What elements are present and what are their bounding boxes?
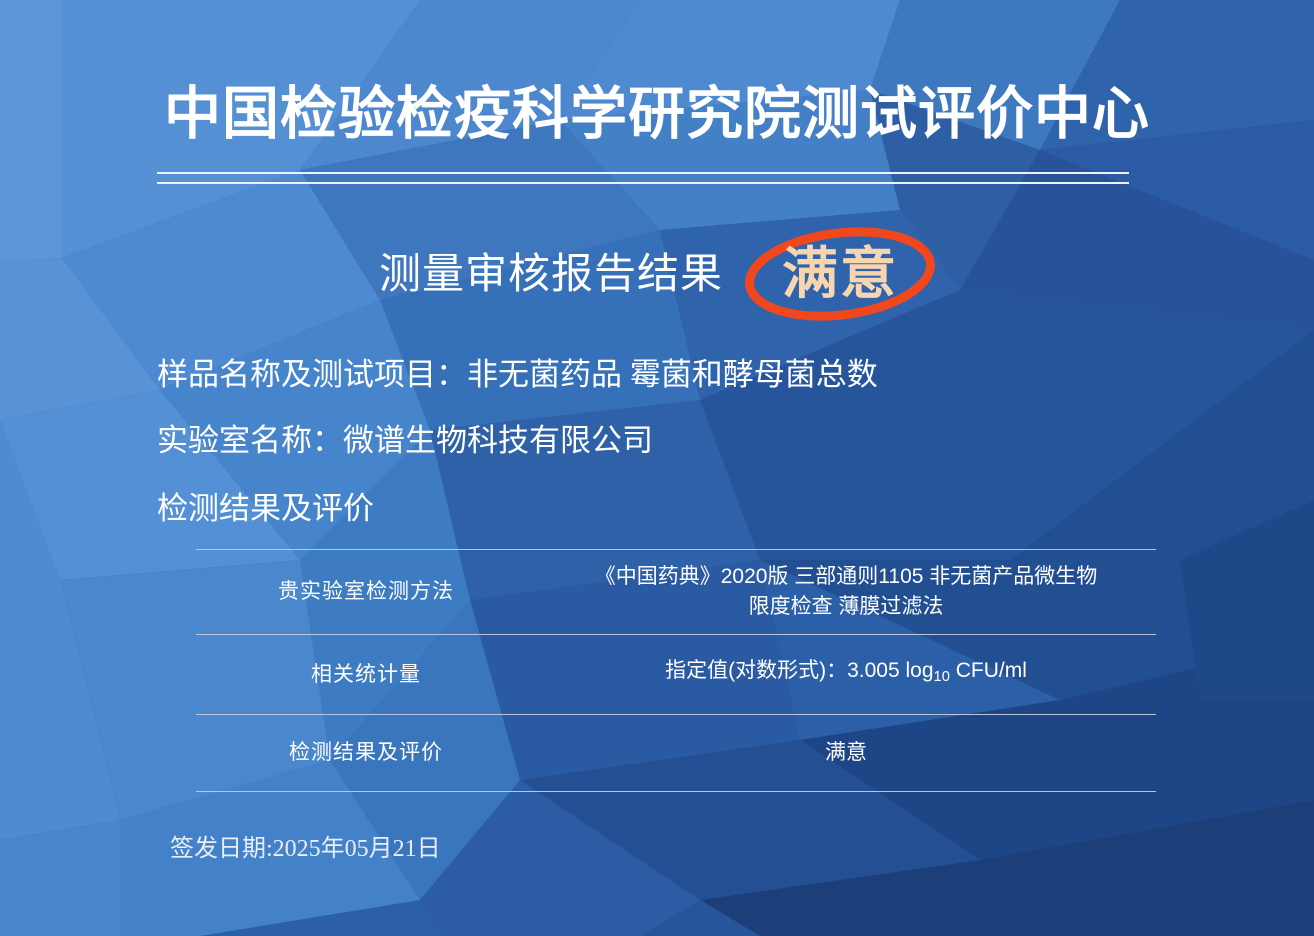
assigned-value-prefix: 指定值(对数形式)：: [665, 659, 847, 682]
table-row: 贵实验室检测方法 《中国药典》2020版 三部通则1105 非无菌产品微生物 限…: [196, 550, 1156, 634]
table-rule-bottom: [196, 791, 1156, 792]
title-divider: [157, 172, 1129, 185]
assigned-value-unit-subscript: 10: [934, 670, 950, 686]
table-row: 检测结果及评价 满意: [196, 715, 1156, 791]
results-table: 贵实验室检测方法 《中国药典》2020版 三部通则1105 非无菌产品微生物 限…: [196, 549, 1156, 792]
sample-name-line: 样品名称及测试项目：非无菌药品 霉菌和酵母菌总数: [157, 355, 878, 395]
org-title: 中国检验检疫科学研究院测试评价中心: [0, 82, 1314, 148]
results-section-heading: 检测结果及评价: [157, 489, 374, 529]
report-subtitle: 测量审核报告结果: [379, 246, 723, 302]
assigned-value-unit-log: log: [906, 659, 934, 682]
table-row: 相关统计量 指定值(对数形式)：3.005 log10 CFU/ml: [196, 635, 1156, 714]
issue-date: 签发日期:2025年05月21日: [170, 833, 441, 865]
subtitle-row: 测量审核报告结果 满意: [0, 228, 1314, 320]
row-value: 指定值(对数形式)：3.005 log10 CFU/ml: [536, 656, 1156, 692]
laboratory-name-line: 实验室名称：微谱生物科技有限公司: [157, 421, 653, 461]
row-value-line-2: 限度检查 薄膜过滤法: [550, 592, 1142, 622]
satisfactory-stamp: 满意: [745, 228, 935, 320]
row-value-line-1: 《中国药典》2020版 三部通则1105 非无菌产品微生物: [550, 562, 1142, 592]
row-value: 满意: [536, 738, 1156, 768]
stamp-label: 满意: [745, 228, 935, 320]
row-label: 相关统计量: [196, 660, 536, 690]
row-label: 检测结果及评价: [196, 738, 536, 768]
assigned-value-number: 3.005: [847, 659, 900, 682]
assigned-value-unit-tail: CFU/ml: [956, 659, 1027, 682]
row-value: 《中国药典》2020版 三部通则1105 非无菌产品微生物 限度检查 薄膜过滤法: [536, 562, 1156, 622]
report-slide: 中国检验检疫科学研究院测试评价中心 测量审核报告结果 满意 样品名称及测试项目：…: [0, 0, 1314, 936]
row-label: 贵实验室检测方法: [196, 577, 536, 607]
